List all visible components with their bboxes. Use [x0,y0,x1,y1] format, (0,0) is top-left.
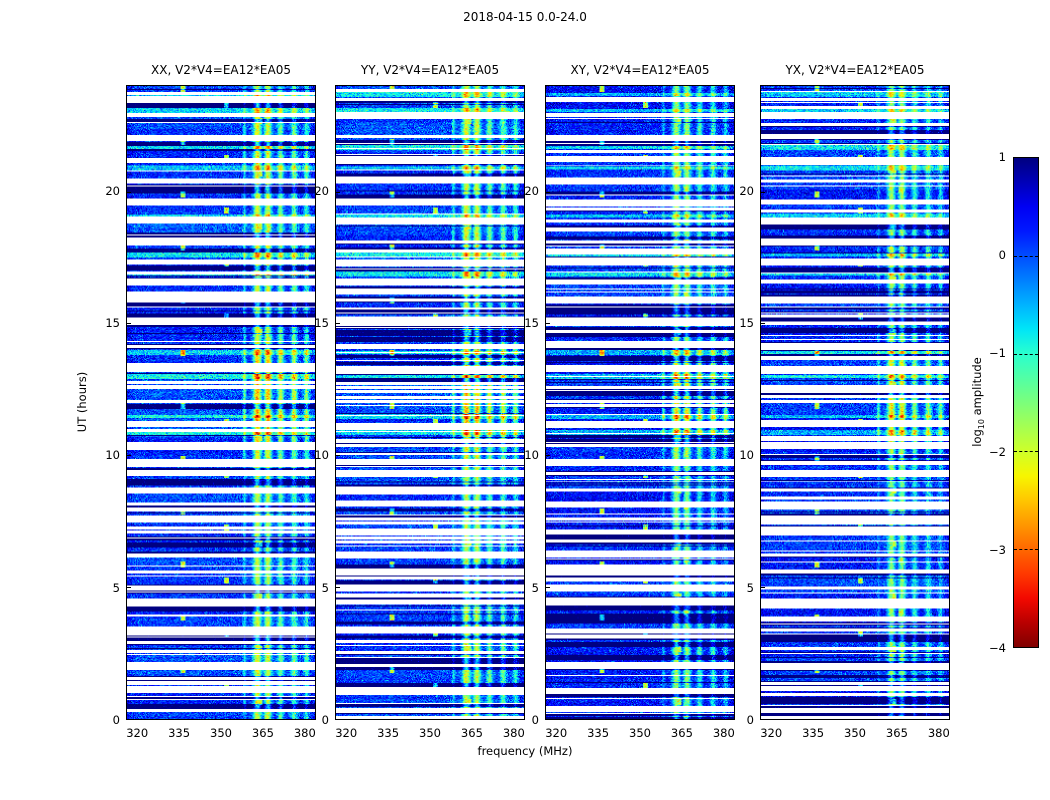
x-axis-tick [304,719,305,720]
y-axis-tick [761,455,765,456]
y-axis-tick [127,323,131,324]
colorbar-tick-label: −3 [989,543,1006,557]
x-axis-tick [347,719,348,720]
colorbar-label-sub: 10 [977,419,986,429]
figure-canvas: 2018-04-15 0.0-24.0 XX, V2*V4=EA12*EA05 … [0,0,1050,800]
axes-yx[interactable] [760,85,950,720]
y-axis-tick [127,455,131,456]
colorbar-tick-label: 0 [999,248,1006,262]
x-axis-tick [723,719,724,720]
y-axis-tick [546,323,550,324]
x-axis-tick-label: 350 [629,726,651,740]
x-axis-tick [180,719,181,720]
axes-yy[interactable] [335,85,525,720]
x-axis-tick-label: 380 [928,726,950,740]
x-axis-tick [221,719,222,720]
x-axis-tick [557,719,558,720]
y-axis-tick-label: 15 [524,316,539,330]
y-axis-tick [546,587,550,588]
y-axis-tick-label: 10 [524,448,539,462]
y-axis-tick-label: 10 [739,448,754,462]
y-axis-tick [761,323,765,324]
y-axis-tick-label: 5 [113,581,120,595]
y-axis-tick [761,192,765,193]
x-axis-tick-label: 380 [503,726,525,740]
x-axis-tick-label: 350 [419,726,441,740]
y-axis-tick-label: 15 [105,316,120,330]
x-axis-tick [262,719,263,720]
y-axis-tick-label: 5 [322,581,329,595]
figure-suptitle: 2018-04-15 0.0-24.0 [0,10,1050,24]
panel-title-yx: YX, V2*V4=EA12*EA05 [760,63,950,77]
x-axis-tick-label: 350 [210,726,232,740]
x-axis-tick [681,719,682,720]
colorbar-tick [1014,451,1038,452]
colorbar-tick [1014,549,1038,550]
x-axis-tick [896,719,897,720]
x-axis-tick-label: 335 [802,726,824,740]
panel-title-yy: YY, V2*V4=EA12*EA05 [335,63,525,77]
y-axis-tick [546,719,550,720]
y-axis-tick-label: 0 [322,713,329,727]
panel-yy: YY, V2*V4=EA12*EA05 32033535036538005101… [335,85,525,720]
y-axis-tick [761,587,765,588]
colorbar-tick-label: −1 [989,346,1006,360]
x-axis-tick-label: 365 [886,726,908,740]
x-axis-tick-label: 320 [335,726,357,740]
colorbar-tick [1014,354,1038,355]
x-axis-tick [855,719,856,720]
colorbar-gradient [1014,158,1038,647]
y-axis-tick-label: 20 [314,184,329,198]
panel-xy: XY, V2*V4=EA12*EA05 32033535036538005101… [545,85,735,720]
heatmap-yy [336,86,524,719]
x-axis-tick [814,719,815,720]
colorbar-tick-label: −2 [989,445,1006,459]
panel-title-xx: XX, V2*V4=EA12*EA05 [126,63,316,77]
y-axis-tick-label: 5 [747,581,754,595]
x-axis-tick-label: 365 [252,726,274,740]
y-axis-tick [127,719,131,720]
colorbar-label-rest: amplitude [970,357,984,419]
heatmap-yx [761,86,949,719]
colorbar[interactable]: 10−1−2−3−4 [1013,157,1039,648]
x-axis-tick [772,719,773,720]
x-axis-label: frequency (MHz) [0,744,1050,758]
x-axis-tick-label: 350 [844,726,866,740]
y-axis-tick-label: 0 [747,713,754,727]
colorbar-tick-label: −4 [989,641,1006,655]
y-axis-tick [336,323,340,324]
y-axis-tick [127,587,131,588]
x-axis-tick [138,719,139,720]
y-axis-tick [127,192,131,193]
panel-yx: YX, V2*V4=EA12*EA05 32033535036538005101… [760,85,950,720]
x-axis-tick-label: 320 [545,726,567,740]
x-axis-tick [599,719,600,720]
colorbar-box [1013,157,1039,648]
y-axis-tick-label: 10 [105,448,120,462]
colorbar-label: log10 amplitude [970,357,986,447]
x-axis-tick-label: 380 [713,726,735,740]
colorbar-label-base: log [970,429,984,447]
x-axis-tick-label: 335 [587,726,609,740]
x-axis-tick [430,719,431,720]
y-axis-tick-label: 15 [739,316,754,330]
x-axis-tick [513,719,514,720]
x-axis-tick [389,719,390,720]
x-axis-tick-label: 320 [760,726,782,740]
y-axis-tick-label: 0 [532,713,539,727]
panel-title-xy: XY, V2*V4=EA12*EA05 [545,63,735,77]
x-axis-tick-label: 365 [671,726,693,740]
colorbar-tick [1014,256,1038,257]
y-axis-tick-label: 20 [739,184,754,198]
y-axis-tick-label: 20 [105,184,120,198]
y-axis-tick-label: 20 [524,184,539,198]
y-axis-tick [336,455,340,456]
y-axis-tick [336,587,340,588]
x-axis-tick-label: 335 [377,726,399,740]
y-axis-tick-label: 5 [532,581,539,595]
heatmap-xx [127,86,315,719]
x-axis-tick-label: 365 [461,726,483,740]
y-axis-tick-label: 10 [314,448,329,462]
panel-xx: XX, V2*V4=EA12*EA05 32033535036538005101… [126,85,316,720]
heatmap-xy [546,86,734,719]
x-axis-tick-label: 320 [126,726,148,740]
x-axis-tick [471,719,472,720]
y-axis-label: UT (hours) [75,372,89,432]
y-axis-tick [336,719,340,720]
x-axis-tick [938,719,939,720]
y-axis-tick [336,192,340,193]
y-axis-tick [546,192,550,193]
y-axis-tick-label: 0 [113,713,120,727]
colorbar-tick-label: 1 [999,150,1006,164]
y-axis-tick-label: 15 [314,316,329,330]
axes-xy[interactable] [545,85,735,720]
x-axis-tick-label: 380 [294,726,316,740]
x-axis-tick [640,719,641,720]
axes-xx[interactable] [126,85,316,720]
x-axis-tick-label: 335 [168,726,190,740]
y-axis-tick [761,719,765,720]
y-axis-tick [546,455,550,456]
